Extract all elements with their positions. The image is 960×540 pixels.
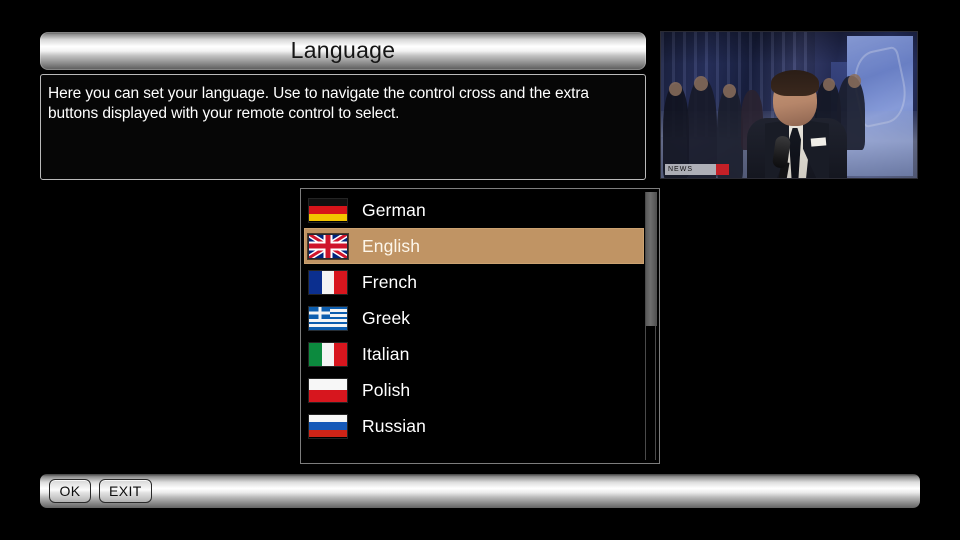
language-label: Greek	[362, 308, 410, 329]
tv-settings-screen: Language Here you can set your language.…	[0, 0, 960, 540]
language-list-item-german[interactable]: German	[304, 192, 644, 228]
language-list-panel: German English French	[300, 188, 660, 464]
video-reporter-hair	[771, 70, 819, 96]
live-video-preview[interactable]: NEWS	[660, 31, 918, 179]
video-crowd-head	[823, 78, 835, 91]
language-label: French	[362, 272, 417, 293]
video-crowd-head	[669, 82, 682, 96]
video-crowd-head	[694, 76, 708, 91]
description-text: Here you can set your language. Use to n…	[48, 84, 637, 124]
flag-ru-icon	[308, 414, 348, 439]
window-title-bar: Language	[40, 32, 646, 70]
language-list-item-italian[interactable]: Italian	[304, 336, 644, 372]
language-label: Italian	[362, 344, 409, 365]
channel-logo-accent	[716, 164, 729, 175]
flag-pl-icon	[308, 378, 348, 403]
description-panel: Here you can set your language. Use to n…	[40, 74, 646, 180]
flag-it-icon	[308, 342, 348, 367]
language-list-scrollbar[interactable]	[645, 192, 656, 460]
language-list-item-polish[interactable]: Polish	[304, 372, 644, 408]
language-label: English	[362, 236, 420, 257]
channel-logo-label: NEWS	[665, 166, 693, 173]
video-channel-logo: NEWS	[665, 164, 729, 175]
exit-button-label: EXIT	[109, 483, 142, 499]
language-list-item-greek[interactable]: Greek	[304, 300, 644, 336]
video-crowd-head	[848, 74, 861, 88]
language-label: Russian	[362, 416, 426, 437]
flag-gr-icon	[308, 306, 348, 331]
language-list-item-english[interactable]: English	[304, 228, 644, 264]
scrollbar-thumb[interactable]	[646, 192, 657, 326]
flag-fr-icon	[308, 270, 348, 295]
bottom-action-bar: OK EXIT	[40, 474, 920, 508]
flag-gb-icon	[308, 234, 348, 259]
video-reporter-pocket-square	[811, 137, 827, 146]
page-title: Language	[291, 39, 396, 64]
ok-button[interactable]: OK	[49, 479, 91, 503]
language-label: Polish	[362, 380, 410, 401]
language-label: German	[362, 200, 426, 221]
video-crowd-head	[723, 84, 736, 98]
language-list-rows: German English French	[304, 192, 644, 460]
language-list-item-russian[interactable]: Russian	[304, 408, 644, 444]
flag-de-icon	[308, 198, 348, 223]
language-list-item-french[interactable]: French	[304, 264, 644, 300]
exit-button[interactable]: EXIT	[99, 479, 152, 503]
ok-button-label: OK	[59, 483, 80, 499]
